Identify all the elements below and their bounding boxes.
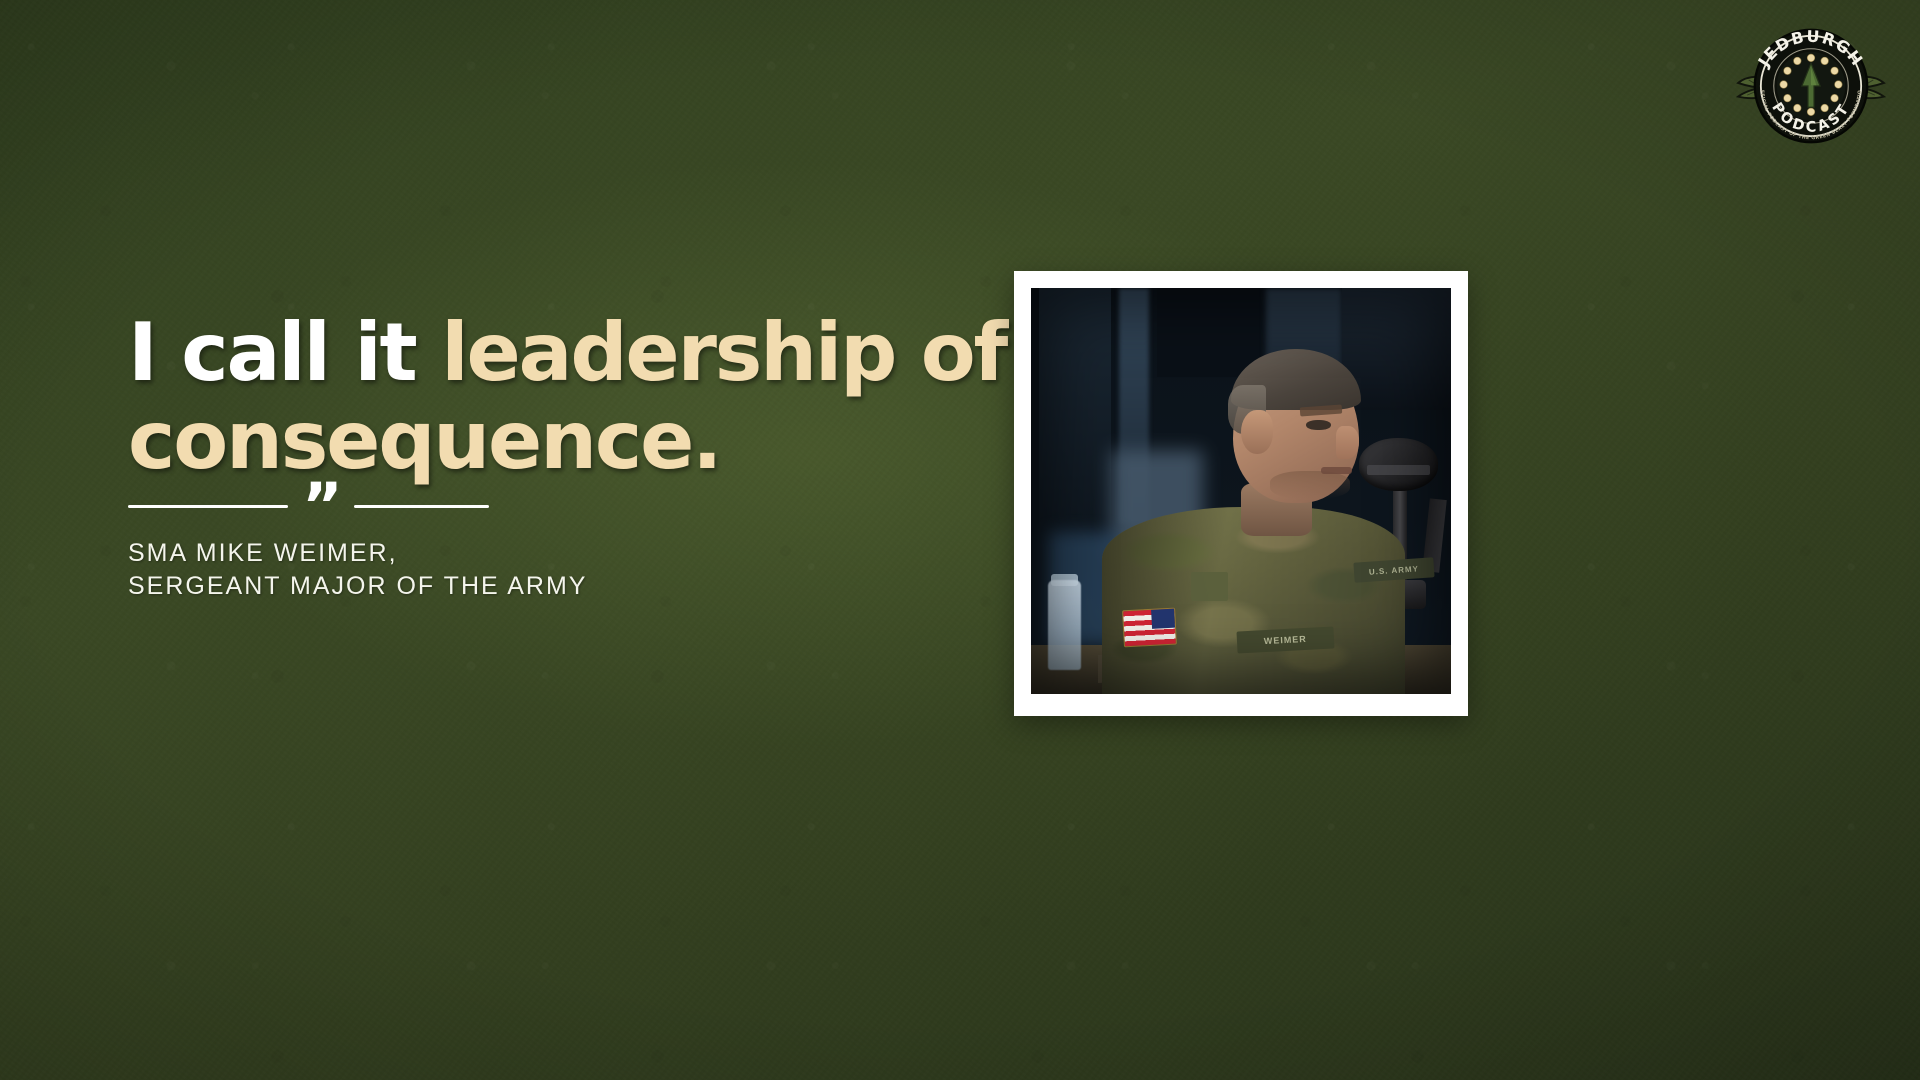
guest-photo: WEIMER U.S. ARMY <box>1031 288 1451 694</box>
attribution-name: SMA MIKE WEIMER, <box>128 537 587 570</box>
quote-line-2: consequence. <box>128 400 908 482</box>
quote-divider: ” <box>128 489 530 523</box>
quote-text-highlight-1: leadership of <box>441 306 1006 399</box>
divider-rule-right <box>354 505 489 508</box>
jedburgh-podcast-logo[interactable]: JEDBURGH PODCAST OFFICIAL PODCAST OF THE… <box>1732 10 1890 162</box>
photo-vignette <box>1031 288 1451 694</box>
quote-block: I call it leadership of consequence. <box>128 312 908 481</box>
attribution: SMA MIKE WEIMER, SERGEANT MAJOR OF THE A… <box>128 537 587 602</box>
photo-frame: WEIMER U.S. ARMY <box>1014 271 1468 716</box>
quote-text-plain: I call it <box>128 306 441 399</box>
quote-line-1: I call it leadership of <box>128 312 908 394</box>
divider-rule-left <box>128 505 288 508</box>
attribution-title: SERGEANT MAJOR OF THE ARMY <box>128 570 587 603</box>
quote-graphic: I call it leadership of consequence. ” S… <box>0 0 1920 1080</box>
